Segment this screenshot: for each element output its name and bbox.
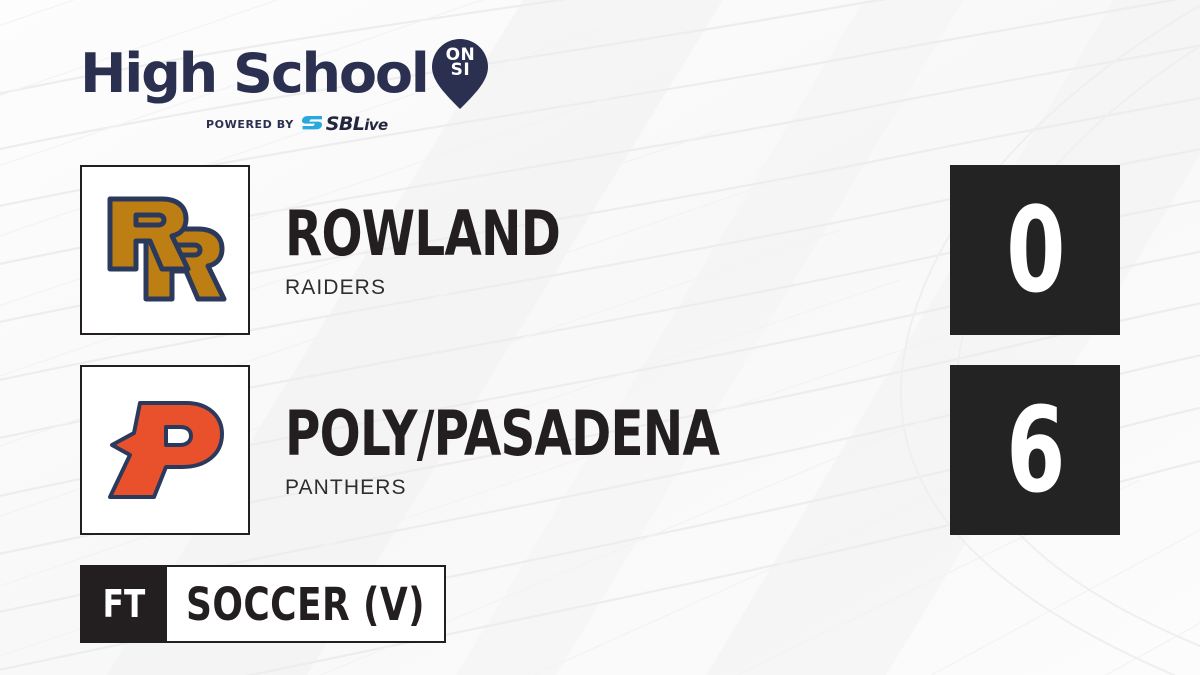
brand-wordmark-row: High School ON SI bbox=[80, 38, 489, 110]
team-name: ROWLAND bbox=[285, 203, 560, 265]
team-text-block: POLY/PASADENA PANTHERS bbox=[285, 365, 985, 535]
poly-pasadena-p-logo bbox=[80, 365, 250, 535]
team-mascot: RAIDERS bbox=[285, 276, 386, 300]
status-period-badge: FT bbox=[80, 565, 167, 643]
sblive-s-mark-icon bbox=[301, 115, 323, 134]
sblive-wordmark: SBLive bbox=[326, 115, 388, 134]
sblive-logo: SBLive bbox=[301, 115, 388, 134]
brand-wordmark: High School bbox=[80, 47, 428, 101]
game-status-bar: FT SOCCER (V) bbox=[80, 565, 446, 643]
brand-header: High School ON SI POWERED BY SBLive bbox=[80, 38, 489, 134]
pin-label-line2: SI bbox=[431, 63, 489, 78]
team-text-block: ROWLAND RAIDERS bbox=[285, 165, 985, 335]
rowland-double-r-logo bbox=[80, 165, 250, 335]
status-event-label: SOCCER (V) bbox=[186, 582, 425, 627]
team-mascot: PANTHERS bbox=[285, 476, 407, 500]
sblive-main: SBL bbox=[326, 113, 364, 135]
status-event-panel: SOCCER (V) bbox=[167, 565, 446, 643]
team-name: POLY/PASADENA bbox=[285, 403, 719, 465]
location-pin-icon: ON SI bbox=[431, 38, 489, 110]
sblive-tail: ive bbox=[364, 116, 387, 134]
team-score: 0 bbox=[1006, 191, 1064, 309]
score-box: 0 bbox=[950, 165, 1120, 335]
pin-icon-label: ON SI bbox=[431, 48, 489, 78]
score-box: 6 bbox=[950, 365, 1120, 535]
powered-by-label: POWERED BY bbox=[206, 118, 294, 131]
powered-by-row: POWERED BY SBLive bbox=[206, 115, 489, 134]
status-period-label: FT bbox=[102, 585, 145, 623]
team-score: 6 bbox=[1006, 391, 1064, 509]
